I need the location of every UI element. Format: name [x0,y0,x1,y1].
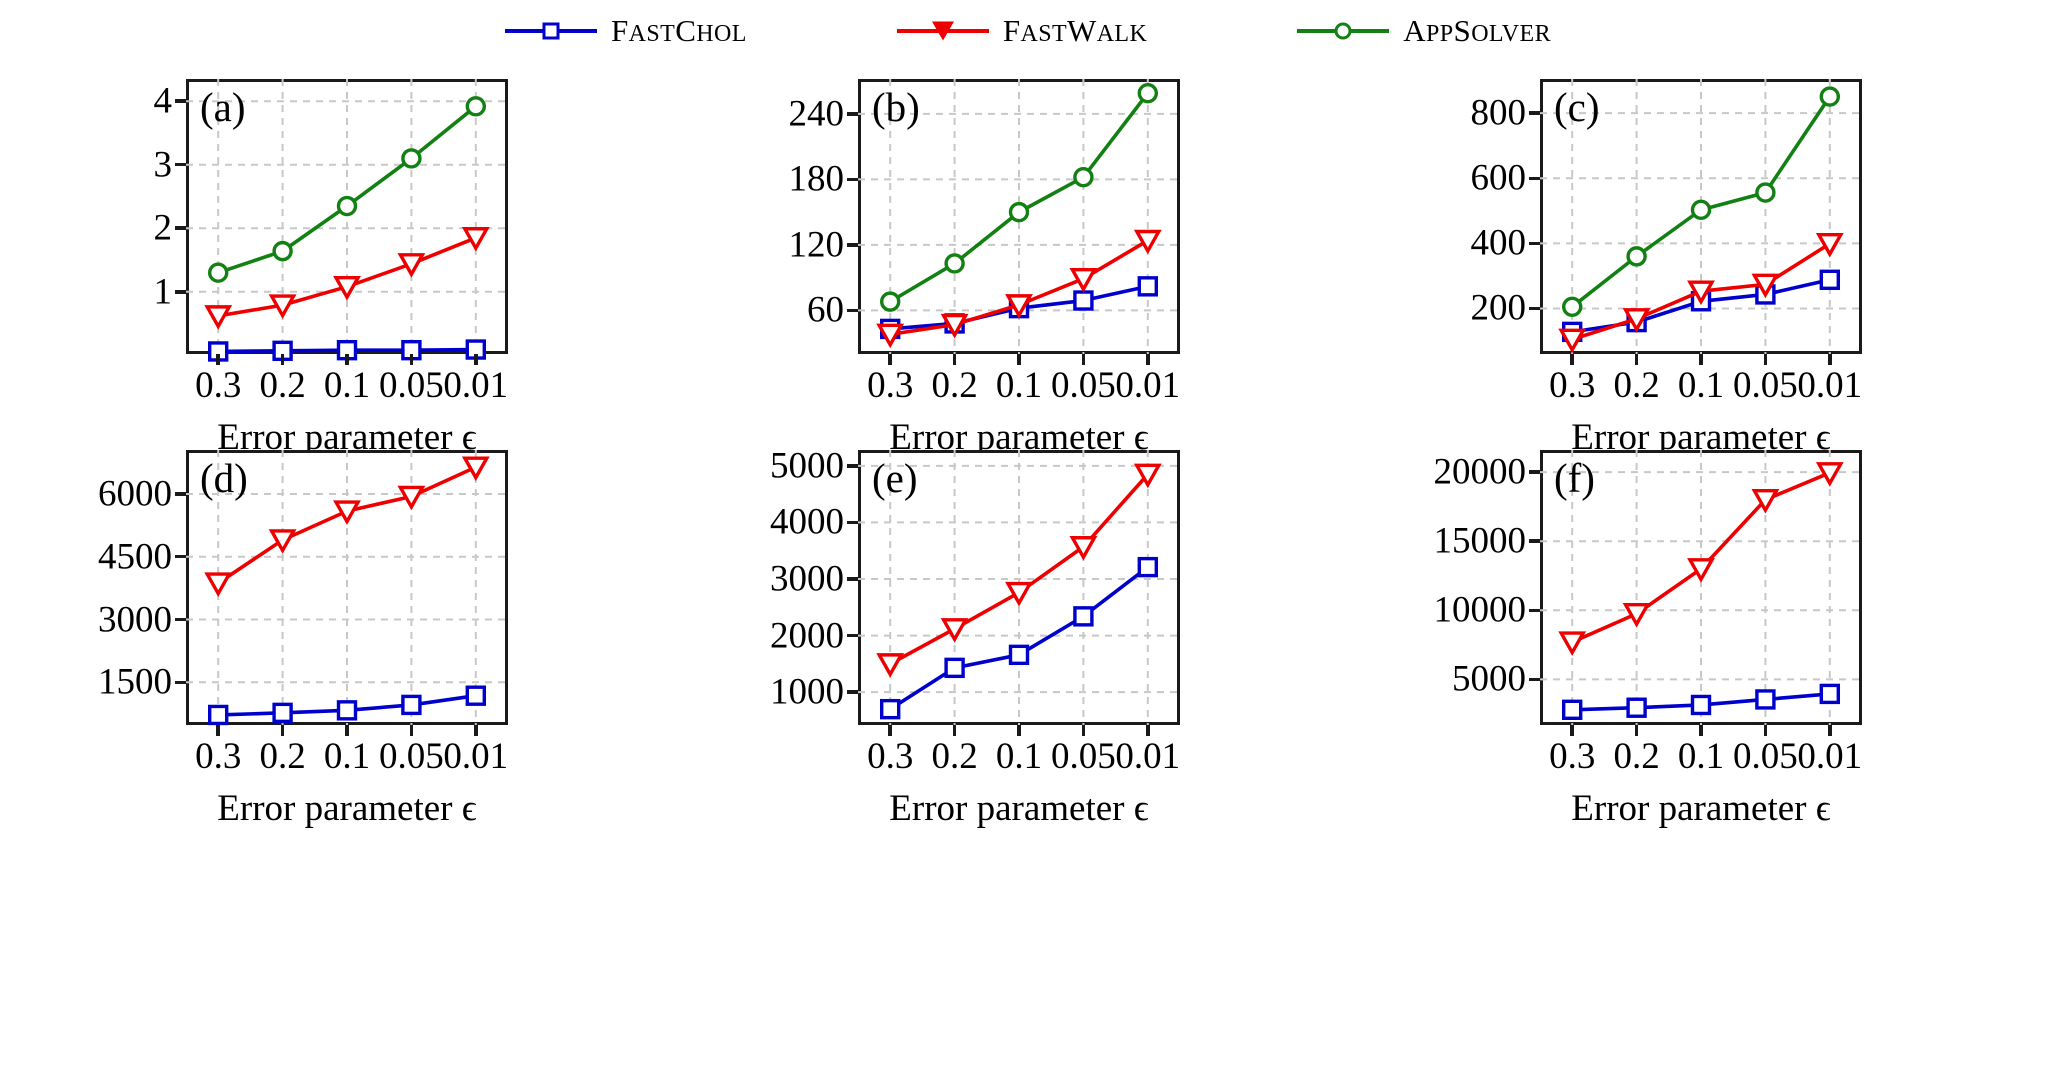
y-tick-label: 20000 [1366,451,1526,494]
legend-marker-fastchol [505,21,597,41]
legend-label-appsolver: APPSOLVER [1403,13,1551,49]
y-tick-mark [1529,678,1540,682]
y-tick-label: 15000 [1366,520,1526,563]
y-tick-label: 10000 [1366,589,1526,632]
legend-label-fastchol: FASTCHOL [611,13,747,49]
x-tick-mark [1828,725,1832,736]
triangle-down-marker-icon [932,22,954,41]
legend-marker-fastwalk [897,21,989,41]
triangle-down-marker-icon [1819,464,1841,483]
square-marker-icon [543,23,560,40]
x-tick-label: 0.01 [1797,735,1862,778]
panel-tag: (f) [1554,454,1595,502]
y-tick-mark [1529,470,1540,474]
square-marker-icon [1628,699,1645,716]
x-tick-label: 0.1 [1678,735,1724,778]
triangle-down-marker-icon [1561,633,1583,652]
circle-marker-icon [1335,23,1352,40]
legend-entry-fastchol[interactable]: FASTCHOL [505,13,747,49]
legend-label-fastwalk: FASTWALK [1003,13,1147,49]
x-tick-label: 0.2 [1613,735,1659,778]
x-tick-mark [1699,725,1703,736]
x-tick-mark [1570,725,1574,736]
y-tick-mark [1529,539,1540,543]
panel-grid: (a)12340.30.20.10.050.01Error parameter … [0,62,2056,1092]
x-tick-label: 0.05 [1733,735,1798,778]
figure-root: FASTCHOLFASTWALKAPPSOLVER (a)12340.30.20… [0,0,2056,1092]
x-tick-mark [1764,725,1768,736]
x-axis-label: Error parameter ϵ [1571,787,1830,830]
y-tick-label: 5000 [1366,658,1526,701]
plot-area-f: (f) [1540,450,1862,725]
square-marker-icon [1693,696,1710,713]
legend-marker-appsolver [1297,21,1389,41]
y-tick-mark [1529,609,1540,613]
square-marker-icon [1564,701,1581,718]
square-marker-icon [1757,691,1774,708]
triangle-down-marker-icon [1626,605,1648,624]
panel-f: (f)50001000015000200000.30.20.10.050.01E… [0,62,2056,1092]
x-tick-label: 0.3 [1549,735,1595,778]
legend-entry-appsolver[interactable]: APPSOLVER [1297,13,1551,49]
legend: FASTCHOLFASTWALKAPPSOLVER [0,0,2056,62]
x-tick-mark [1635,725,1639,736]
square-marker-icon [1821,685,1838,702]
legend-entry-fastwalk[interactable]: FASTWALK [897,13,1147,49]
